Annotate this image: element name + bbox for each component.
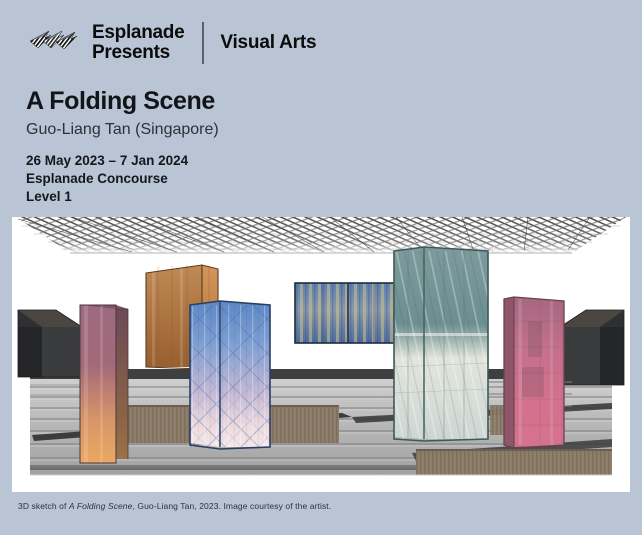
brand-header: Esplanade Presents Visual Arts <box>28 18 316 68</box>
image-caption: 3D sketch of A Folding Scene, Guo-Liang … <box>18 500 331 512</box>
wall-panel-blue-yellow <box>295 283 401 343</box>
caption-work-title: A Folding Scene <box>69 501 133 511</box>
teal-folding-screen <box>394 247 488 441</box>
slim-column-purple-orange <box>80 305 128 463</box>
pink-folding-screen <box>504 297 564 448</box>
exhibition-level: Level 1 <box>26 188 188 206</box>
caption-suffix: , Guo-Liang Tan, 2023. Image courtesy of… <box>132 501 331 511</box>
brand-wordmark: Esplanade Presents <box>92 23 184 63</box>
exhibition-promo-page: Esplanade Presents Visual Arts A Folding… <box>0 0 642 535</box>
header-section-label: Visual Arts <box>220 32 316 54</box>
blue-folding-screen <box>190 301 270 449</box>
title-block: A Folding Scene Guo-Liang Tan (Singapore… <box>26 86 219 140</box>
exhibition-venue: Esplanade Concourse <box>26 170 188 188</box>
artist-name: Guo-Liang Tan (Singapore) <box>26 120 219 140</box>
caption-prefix: 3D sketch of <box>18 501 69 511</box>
ceiling <box>16 217 626 253</box>
header-divider <box>202 22 204 64</box>
artwork-image <box>12 217 630 492</box>
esplanade-feathers-logo-icon <box>28 24 80 62</box>
exhibition-details: 26 May 2023 – 7 Jan 2024 Esplanade Conco… <box>26 152 188 206</box>
exhibition-dates: 26 May 2023 – 7 Jan 2024 <box>26 152 188 170</box>
page-title: A Folding Scene <box>26 86 219 116</box>
